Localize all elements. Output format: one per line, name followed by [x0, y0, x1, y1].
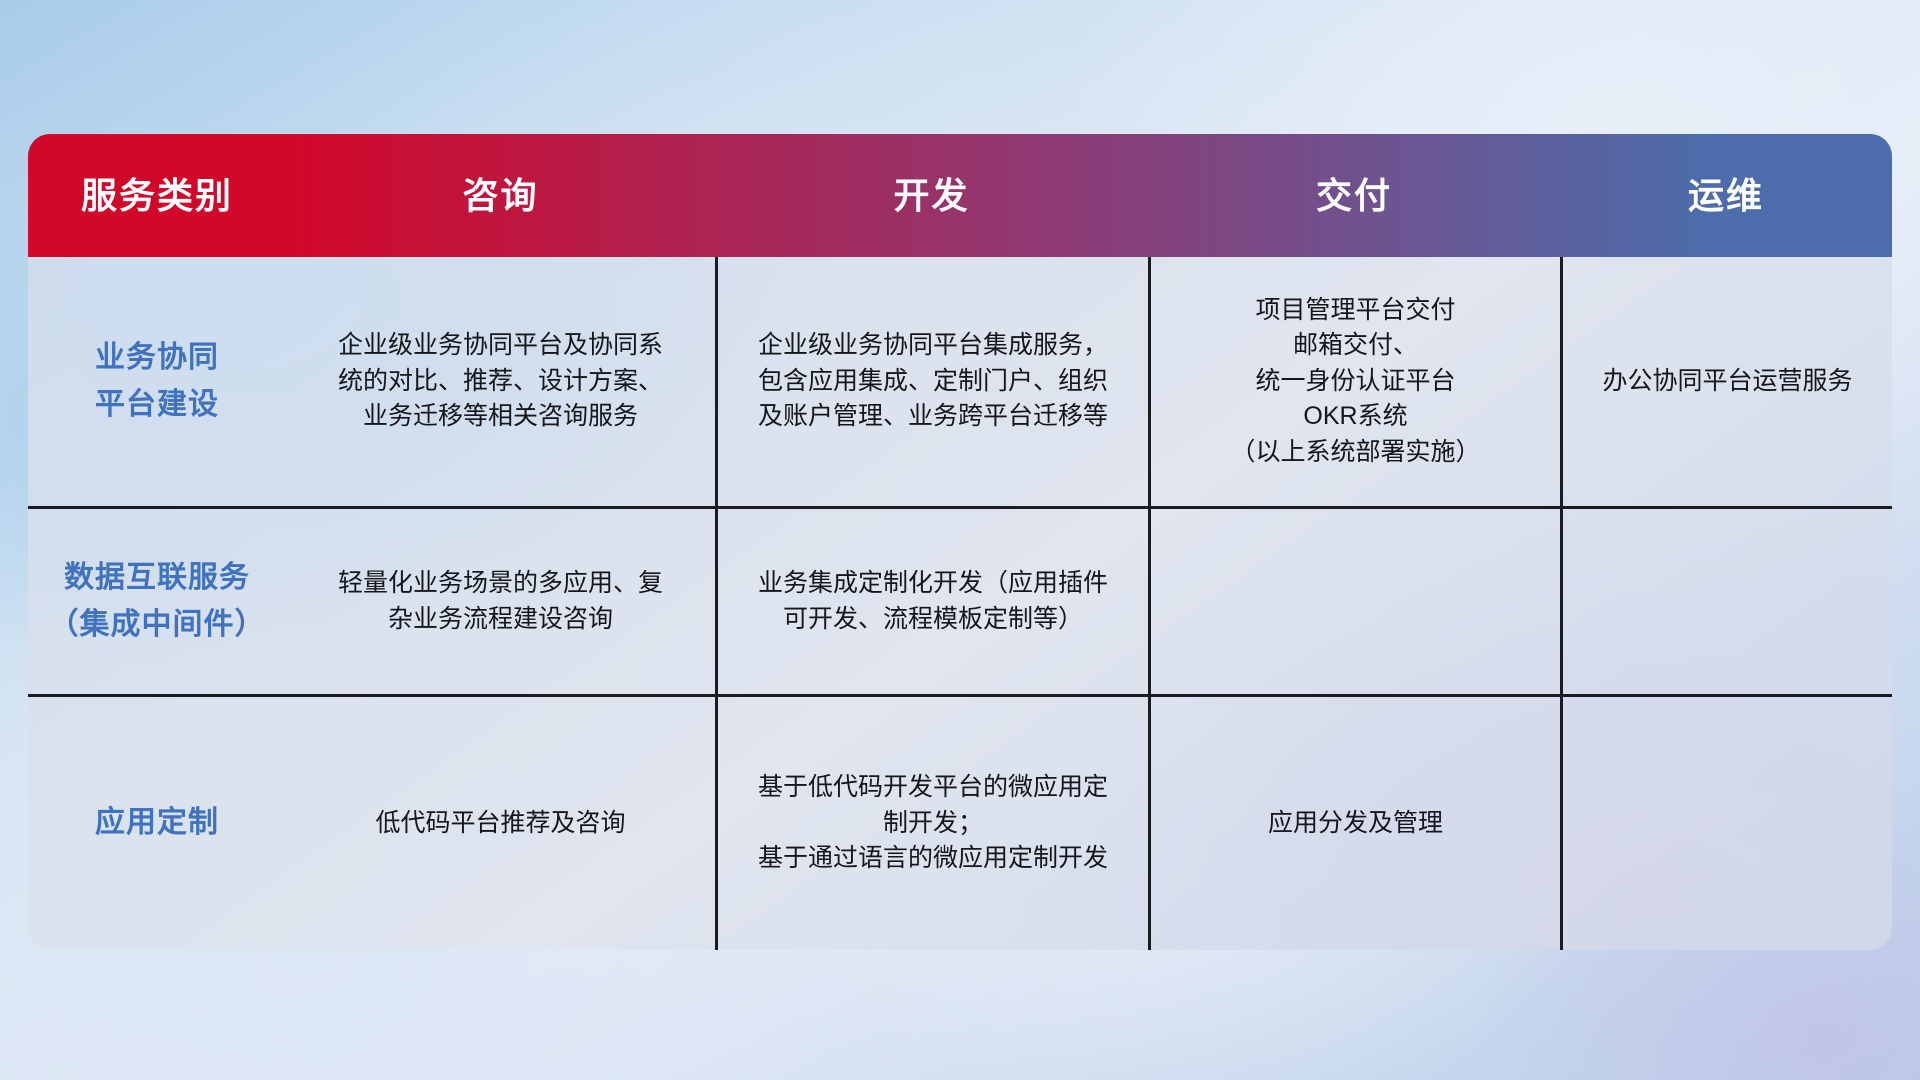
cell-operations [1560, 697, 1892, 950]
table-body: 业务协同 平台建设企业级业务协同平台及协同系 统的对比、推荐、设计方案、 业务迁… [28, 257, 1892, 950]
cell-delivery [1148, 509, 1560, 694]
cell-category: 业务协同 平台建设企业级业务协同平台及协同系 统的对比、推荐、设计方案、 业务迁… [28, 257, 715, 506]
cell-delivery: 应用分发及管理 [1148, 697, 1560, 950]
column-header-consulting: 咨询 [286, 178, 715, 214]
column-header-delivery: 交付 [1148, 178, 1560, 214]
cell-development: 业务集成定制化开发（应用插件 可开发、流程模板定制等） [715, 509, 1148, 694]
cell-category: 应用定制低代码平台推荐及咨询 [28, 697, 715, 950]
cell-consulting: 轻量化业务场景的多应用、复 杂业务流程建设咨询 [286, 566, 715, 637]
table-header-row: 服务类别 咨询 开发 交付 运维 [28, 134, 1892, 257]
category-label: 应用定制 [28, 800, 286, 847]
cell-operations: 办公协同平台运营服务 [1560, 257, 1892, 506]
cell-development: 企业级业务协同平台集成服务， 包含应用集成、定制门户、组织 及账户管理、业务跨平… [715, 257, 1148, 506]
column-header-category: 服务类别 [28, 178, 286, 214]
category-label: 数据互联服务 （集成中间件） [28, 555, 286, 648]
cell-category: 数据互联服务 （集成中间件）轻量化业务场景的多应用、复 杂业务流程建设咨询 [28, 509, 715, 694]
column-header-operations: 运维 [1560, 178, 1892, 214]
table-row: 业务协同 平台建设企业级业务协同平台及协同系 统的对比、推荐、设计方案、 业务迁… [28, 257, 1892, 506]
table-row: 数据互联服务 （集成中间件）轻量化业务场景的多应用、复 杂业务流程建设咨询 业务… [28, 506, 1892, 694]
category-label: 业务协同 平台建设 [28, 335, 286, 428]
service-matrix-table: 服务类别 咨询 开发 交付 运维 业务协同 平台建设企业级业务协同平台及协同系 … [28, 134, 1892, 950]
cell-delivery: 项目管理平台交付 邮箱交付、 统一身份认证平台 OKR系统 （以上系统部署实施） [1148, 257, 1560, 506]
table-row: 应用定制低代码平台推荐及咨询 基于低代码开发平台的微应用定 制开发； 基于通过语… [28, 694, 1892, 950]
cell-consulting: 企业级业务协同平台及协同系 统的对比、推荐、设计方案、 业务迁移等相关咨询服务 [286, 328, 715, 435]
cell-operations [1560, 509, 1892, 694]
column-header-development: 开发 [715, 178, 1148, 214]
cell-consulting: 低代码平台推荐及咨询 [286, 806, 715, 842]
cell-development: 基于低代码开发平台的微应用定 制开发； 基于通过语言的微应用定制开发 [715, 697, 1148, 950]
